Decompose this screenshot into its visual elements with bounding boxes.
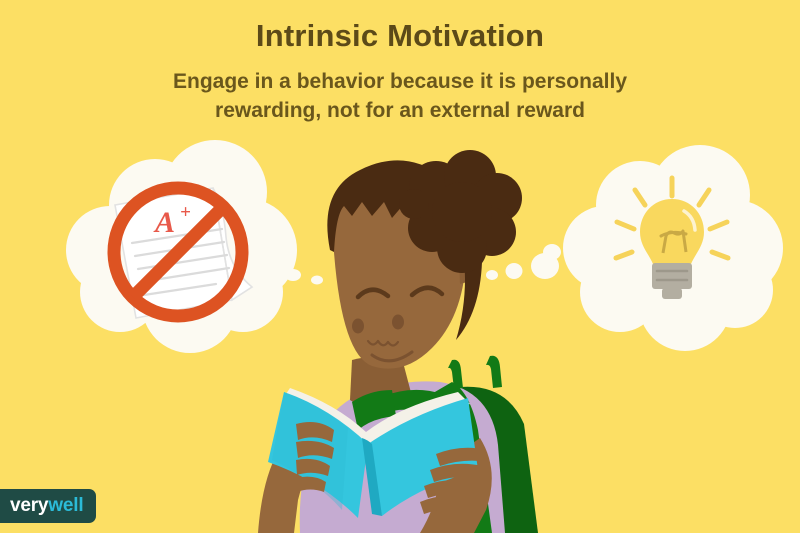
infographic-canvas: A + (0, 0, 800, 533)
right-thought-bubble (563, 145, 783, 351)
left-thought-bubble: A + (66, 140, 297, 353)
illustration: A + (0, 0, 800, 533)
verywell-logo[interactable]: verywell (0, 489, 96, 523)
grade-label: A (153, 206, 175, 239)
nostril-right (392, 315, 404, 330)
character-illustration (258, 150, 538, 533)
logo-word-well: well (48, 495, 83, 516)
svg-text:+: + (180, 202, 191, 223)
logo-word-very: very (10, 495, 48, 516)
strap-loop-b (486, 356, 502, 388)
nostril-left (352, 319, 364, 334)
